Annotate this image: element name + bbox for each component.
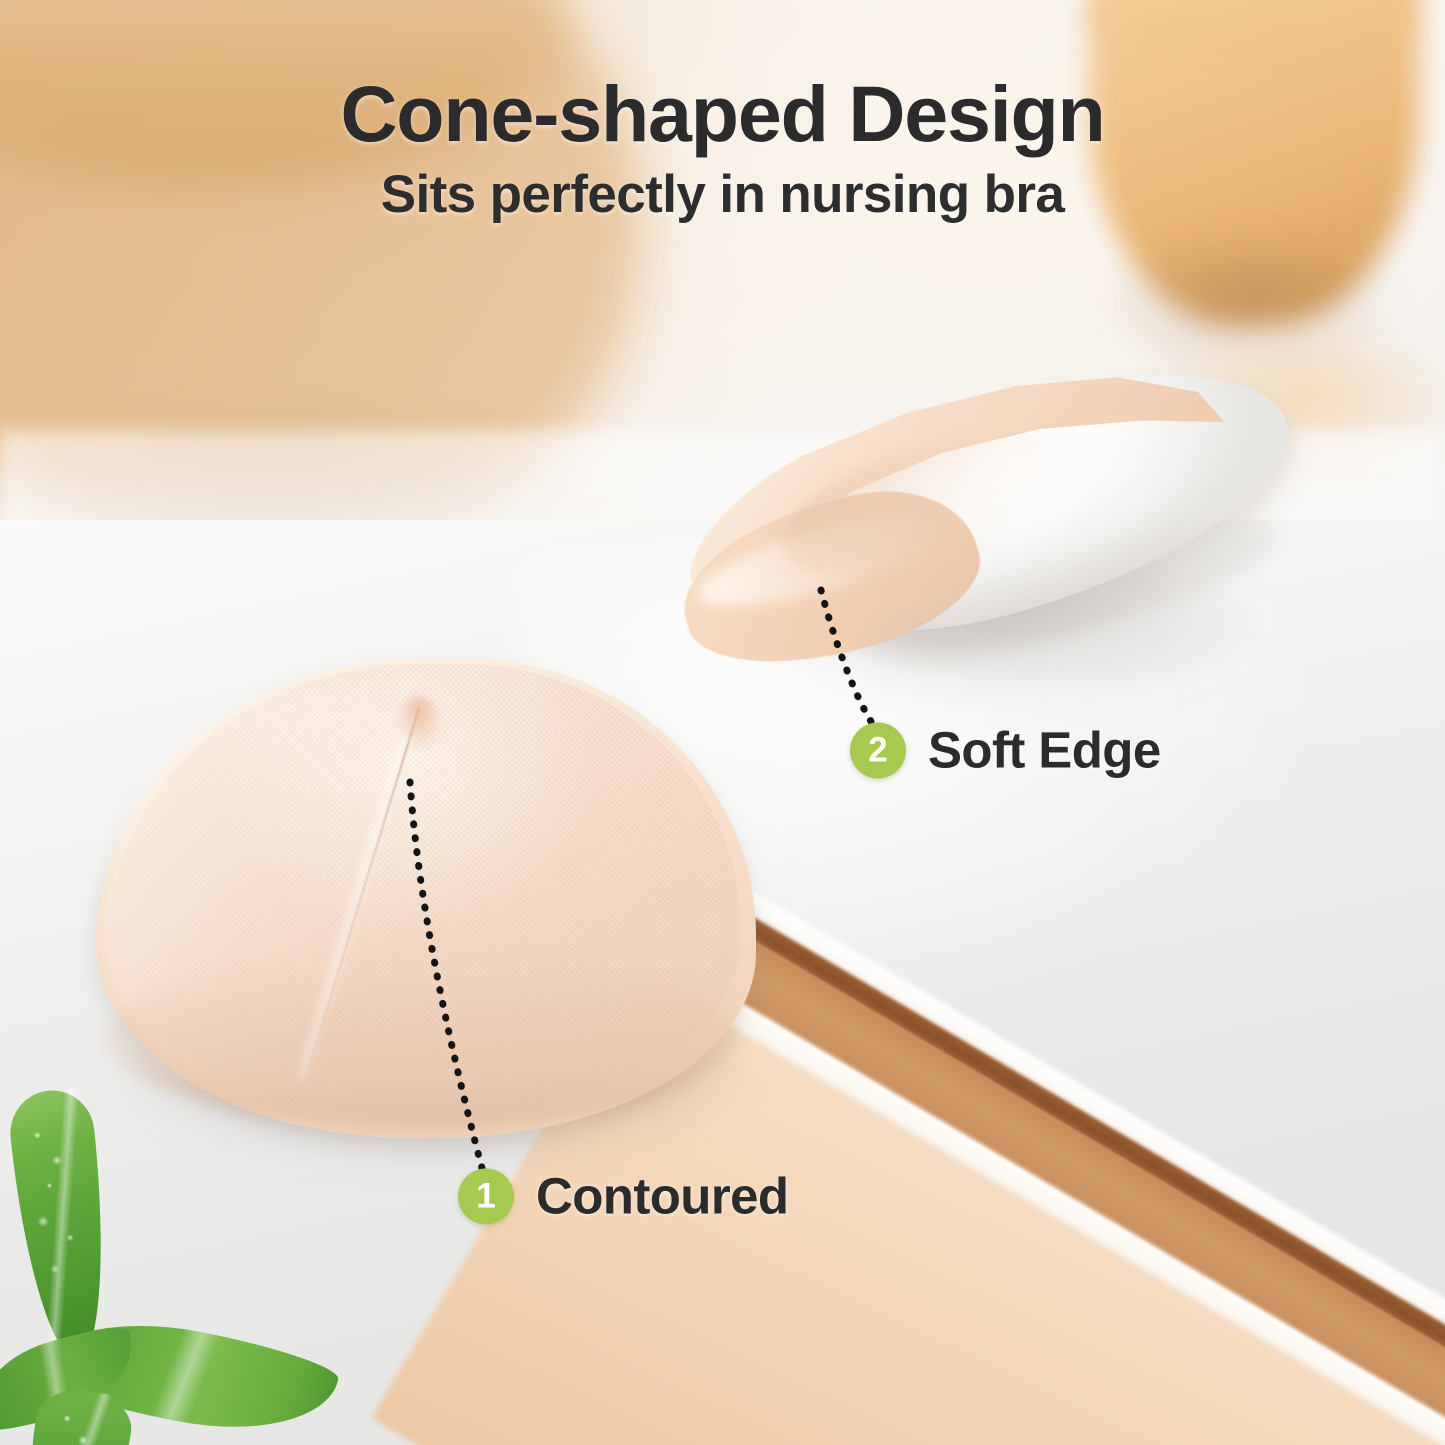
callout-badge-2: 2 — [850, 722, 906, 778]
bamboo-leaves — [0, 1090, 460, 1445]
callout-badge-1: 1 — [458, 1168, 514, 1224]
callout-label-soft-edge: Soft Edge — [928, 721, 1161, 780]
product-infographic: Cone-shaped Design Sits perfectly in nur… — [0, 0, 1445, 1445]
page-title: Cone-shaped Design — [0, 74, 1445, 153]
callout-soft-edge: 2 Soft Edge — [850, 721, 1161, 780]
cone-pad-front-view — [96, 648, 756, 1148]
callout-badge-number-2: 2 — [868, 733, 887, 768]
callout-contoured: 1 Contoured — [458, 1167, 788, 1226]
pad-side-view — [660, 372, 1320, 672]
page-subtitle: Sits perfectly in nursing bra — [0, 168, 1445, 221]
callout-badge-number-1: 1 — [476, 1179, 495, 1214]
callout-label-contoured: Contoured — [536, 1167, 788, 1226]
